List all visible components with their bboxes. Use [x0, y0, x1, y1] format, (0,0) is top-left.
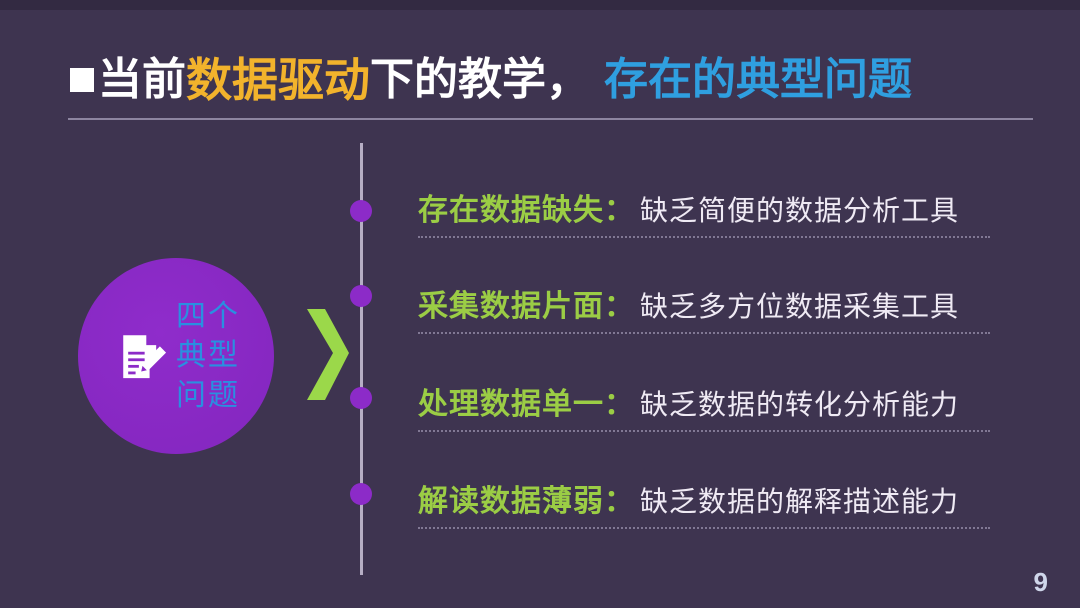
item-colon: ：	[604, 379, 634, 423]
item-colon: ：	[604, 476, 634, 520]
timeline-dot-3	[350, 387, 372, 409]
title-underline	[68, 118, 1033, 120]
list-item: 解读数据薄弱 ： 缺乏数据的解释描述能力	[418, 476, 994, 524]
page-number: 9	[1034, 567, 1048, 598]
item-heading: 解读数据薄弱	[418, 476, 604, 520]
square-bullet-icon	[70, 68, 94, 92]
chevron-right-icon	[303, 307, 351, 403]
title-part-gold: 数据驱动	[186, 57, 370, 103]
page-title: 当前 数据驱动 下的教学， 存在的典型问题	[70, 52, 1045, 108]
document-pencil-icon	[116, 332, 170, 388]
item-heading: 存在数据缺失	[418, 185, 604, 229]
four-problems-circle: 四个 典型 问题	[78, 258, 274, 454]
item-colon: ：	[604, 185, 634, 229]
top-band	[0, 0, 1080, 10]
title-part-blue: 存在的典型问题	[590, 58, 912, 102]
slide-canvas: 当前 数据驱动 下的教学， 存在的典型问题 四个 典型 问题 存在数	[0, 0, 1080, 608]
item-divider	[418, 430, 990, 432]
circle-label: 四个 典型 问题	[176, 297, 240, 416]
list-item: 存在数据缺失 ： 缺乏简便的数据分析工具	[418, 185, 994, 233]
item-heading: 处理数据单一	[418, 379, 604, 423]
item-colon: ：	[604, 281, 634, 325]
timeline-dot-2	[350, 285, 372, 307]
timeline-dot-1	[350, 200, 372, 222]
list-item: 采集数据片面 ： 缺乏多方位数据采集工具	[418, 281, 994, 329]
item-description: 缺乏多方位数据采集工具	[640, 285, 959, 325]
item-divider	[418, 332, 990, 334]
item-heading: 采集数据片面	[418, 281, 604, 325]
title-part-white-2: 下的教学，	[370, 58, 590, 102]
title-part-white-1: 当前	[98, 58, 186, 102]
item-divider	[418, 236, 990, 238]
item-description: 缺乏简便的数据分析工具	[640, 189, 959, 229]
item-description: 缺乏数据的转化分析能力	[640, 383, 959, 423]
item-description: 缺乏数据的解释描述能力	[640, 480, 959, 520]
list-item: 处理数据单一 ： 缺乏数据的转化分析能力	[418, 379, 994, 427]
timeline-dot-4	[350, 483, 372, 505]
item-divider	[418, 527, 990, 529]
